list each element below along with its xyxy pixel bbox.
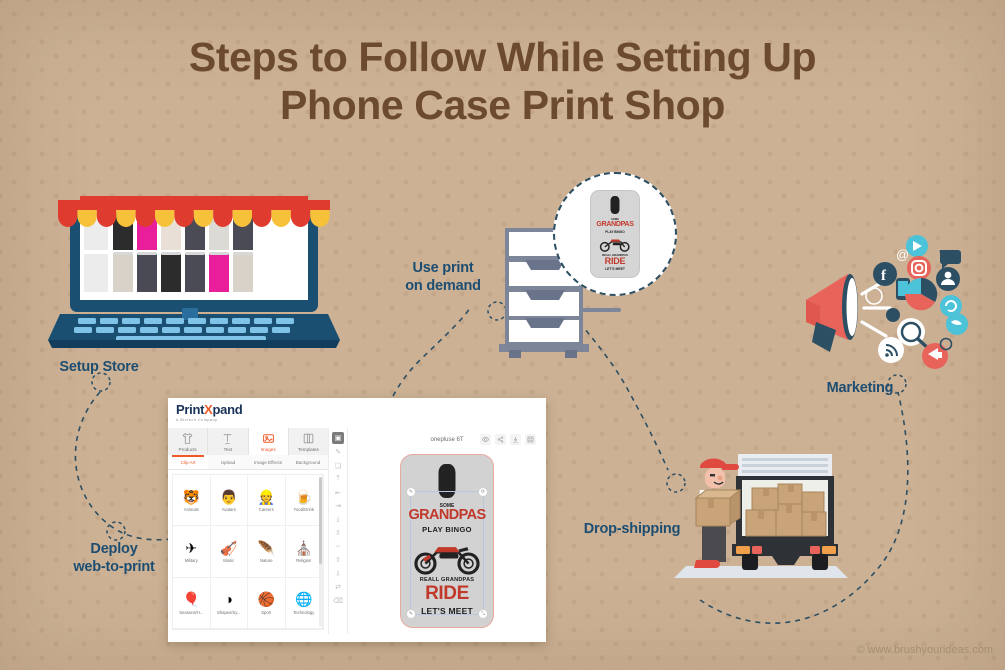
clipart-category-icon: ⛪ (295, 539, 312, 556)
app-footer (168, 634, 546, 642)
logo-part-3: pand (213, 402, 243, 417)
clipart-category-icon: ◑ (225, 591, 233, 608)
clipart-category[interactable]: 🎈Seasons/H... (173, 578, 211, 629)
clipart-category[interactable]: 🎻Music (211, 526, 249, 577)
clipart-category-icon: 🐯 (183, 488, 200, 505)
clipart-category[interactable]: 🪶Nature (248, 526, 286, 577)
flip-icon[interactable]: ⇄ (332, 582, 344, 593)
app-logo-tagline: A Biztech Company (176, 418, 546, 422)
canvas-action-icons[interactable] (480, 434, 536, 445)
align-left-icon[interactable]: ⇤ (332, 487, 344, 498)
tab-images-label: Images (261, 447, 276, 452)
marketing-megaphone-illustration: @ f (790, 222, 990, 382)
object-tool-strip[interactable]: ▣✎❏⤒⇤⇥⤓⇳⇔⇧⇩⇄⌫ (329, 428, 348, 634)
subtab-image-effects[interactable]: Image Effects (248, 455, 288, 469)
tab-products[interactable]: Products (168, 428, 208, 455)
camera-module-icon (611, 196, 620, 214)
clipart-category-icon: 🪶 (258, 539, 275, 556)
step-label-marketing: Marketing (808, 379, 912, 397)
share-icon[interactable] (495, 434, 506, 445)
clipart-category-icon: 🏀 (258, 591, 275, 608)
drop-shipping-illustration (672, 448, 858, 588)
tab-templates-label: Templates (298, 447, 319, 452)
case-line-5: RIDE (401, 583, 493, 605)
clipart-category-label: Sport (261, 610, 271, 615)
duplicate-icon[interactable]: ❏ (332, 460, 344, 471)
download-icon[interactable] (510, 434, 521, 445)
tab-images[interactable]: Images (249, 428, 289, 455)
case-line-5: RIDE (591, 256, 639, 266)
align-right-icon[interactable]: ⇥ (332, 501, 344, 512)
case-line-2: GRANDPAS (591, 221, 639, 228)
tab-products-label: Products (179, 447, 197, 452)
clipart-category[interactable]: ⛪Religion (286, 526, 324, 577)
step-label-print-on-demand: Use print on demand (395, 259, 491, 295)
clipart-category-label: Religion (296, 558, 311, 563)
tab-text[interactable]: Text (208, 428, 248, 455)
infographic-canvas: Steps to Follow While Setting Up Phone C… (0, 0, 1005, 670)
text-tool-icon (208, 432, 247, 445)
clipart-category-icon: 🎻 (220, 539, 237, 556)
web-to-print-designer-app[interactable]: PrintXpand A Biztech Company Products (168, 398, 546, 642)
clipart-category[interactable]: 🍺Food/Drink (286, 475, 324, 526)
main-tab-bar[interactable]: Products Text Images (168, 428, 328, 455)
clipart-category-label: Food/Drink (294, 507, 314, 512)
templates-icon (289, 432, 328, 445)
clipart-category[interactable]: 🐯Animals (173, 475, 211, 526)
title-line-1: Steps to Follow While Setting Up (0, 34, 1005, 82)
clipart-category-icon: 👨 (220, 488, 237, 505)
clipart-category[interactable]: ✈Military (173, 526, 211, 577)
preview-eye-icon[interactable] (480, 434, 491, 445)
title-line-2: Phone Case Print Shop (0, 82, 1005, 130)
social-icon-cluster: @ f (866, 235, 968, 369)
clipart-category[interactable]: 🌐Technology (286, 578, 324, 629)
phone-case-preview[interactable]: ✎ ⟳ ✎ ⤡ SOME GRANDPAS PLAY BINGO (400, 454, 494, 628)
print-on-demand-callout: SOME GRANDPAS PLAY BINGO REALL GRANDPAS … (553, 172, 677, 296)
align-bottom-icon[interactable]: ⤓ (332, 514, 344, 525)
align-center-v-icon[interactable]: ⇳ (332, 528, 344, 539)
case-line-6: LET'S MEET (401, 606, 493, 616)
clipart-category-icon: 🍺 (295, 488, 312, 505)
case-line-2: GRANDPAS (401, 507, 493, 523)
clipart-category-grid[interactable]: 🐯Animals👨Avatars👷Careers🍺Food/Drink✈Mili… (172, 474, 324, 630)
clipart-category[interactable]: ◑Shapes/Sy... (211, 578, 249, 629)
delete-icon[interactable]: ⌫ (332, 595, 344, 606)
clipart-category-label: Shapes/Sy... (217, 610, 240, 615)
tab-templates[interactable]: Templates (289, 428, 328, 455)
sub-tab-bar[interactable]: Clip Art Upload Image Effects Background (168, 455, 328, 470)
subtab-upload[interactable]: Upload (208, 455, 248, 469)
clipart-category-label: Nature (260, 558, 273, 563)
motorcycle-illustration (409, 537, 485, 575)
resize-handle-tr[interactable]: ⟳ (478, 487, 488, 497)
laptop-storefront-illustration (46, 186, 342, 358)
send-backward-icon[interactable]: ⇩ (332, 568, 344, 579)
image-icon (249, 432, 288, 445)
tshirt-icon (168, 432, 207, 445)
resize-handle-tl[interactable]: ✎ (406, 487, 416, 497)
clipart-category-label: Careers (259, 507, 274, 512)
clipart-category[interactable]: 👨Avatars (211, 475, 249, 526)
clipart-category-label: Military (185, 558, 198, 563)
clipart-category[interactable]: 👷Careers (248, 475, 286, 526)
clipart-category-icon: 🌐 (295, 591, 312, 608)
edit-pencil-icon[interactable]: ✎ (332, 447, 344, 458)
logo-part-1: Print (176, 402, 204, 417)
clipart-category-label: Avatars (222, 507, 236, 512)
clipart-category-label: Music (223, 558, 234, 563)
motorcycle-illustration (598, 235, 632, 252)
clipart-category[interactable]: 🏀Sport (248, 578, 286, 629)
mini-phone-case: SOME GRANDPAS PLAY BINGO REALL GRANDPAS … (590, 190, 640, 278)
pod-label-line1: Use print (412, 260, 473, 276)
design-canvas-area[interactable]: onepluse 6T (348, 428, 546, 634)
layers-icon[interactable]: ▣ (332, 432, 344, 444)
clipart-category-icon: ✈ (185, 539, 197, 556)
left-tool-panel: Products Text Images (168, 428, 329, 634)
logo-part-x: X (204, 402, 212, 417)
subtab-background[interactable]: Background (288, 455, 328, 469)
step-label-drop-shipping: Drop-shipping (570, 520, 694, 538)
tab-text-label: Text (224, 447, 232, 452)
bring-forward-icon[interactable]: ⇧ (332, 555, 344, 566)
pod-label-line2: on demand (405, 278, 481, 294)
app-brand-bar: PrintXpand A Biztech Company (168, 398, 546, 428)
align-center-h-icon[interactable]: ⇔ (332, 541, 344, 552)
clipart-category-label: Technology (293, 610, 314, 615)
step-label-deploy: Deploy web-to-print (50, 540, 178, 576)
align-top-icon[interactable]: ⤒ (332, 474, 344, 485)
case-line-3: PLAY BINGO (591, 230, 639, 234)
clipart-category-label: Animals (184, 507, 199, 512)
clipart-scrollbar[interactable] (319, 477, 322, 627)
node-deploy (107, 522, 125, 540)
svg-text:@: @ (896, 247, 909, 262)
case-line-6: LET'S MEET (591, 267, 639, 271)
deploy-label-line1: Deploy (90, 541, 137, 557)
copyright-credit: © www.brushyourideas.com (857, 644, 994, 656)
clipart-category-icon: 🎈 (183, 591, 200, 608)
save-icon[interactable] (525, 434, 536, 445)
step-label-setup-store: Setup Store (36, 358, 162, 376)
clipart-category-label: Seasons/H... (179, 610, 203, 615)
page-title: Steps to Follow While Setting Up Phone C… (0, 34, 1005, 130)
case-line-3: PLAY BINGO (401, 525, 493, 534)
clipart-category-icon: 👷 (258, 488, 275, 505)
deploy-label-line2: web-to-print (73, 559, 154, 575)
app-logo: PrintXpand (176, 403, 546, 416)
subtab-clip-art[interactable]: Clip Art (168, 455, 208, 469)
